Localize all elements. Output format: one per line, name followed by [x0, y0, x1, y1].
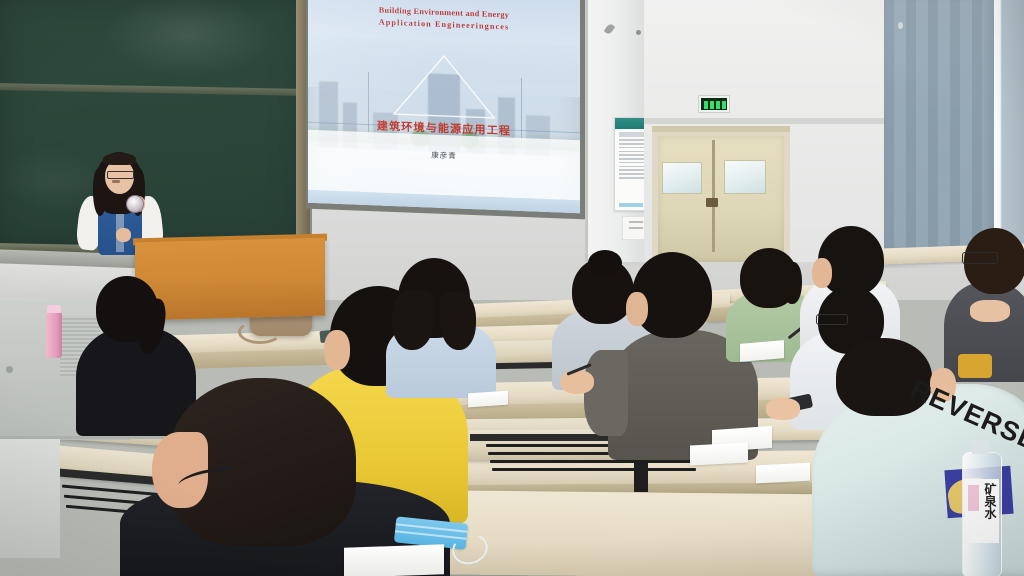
bottle-label-text: 矿泉水 [983, 483, 996, 519]
student-10-hand [970, 300, 1010, 322]
paper-4 [690, 442, 748, 465]
glasses-icon-far-right [962, 252, 998, 264]
student-6-hand [560, 370, 594, 394]
glasses-icon-right-mid [816, 314, 848, 325]
student-5-hair-bun [588, 250, 622, 276]
paper-5 [756, 463, 810, 484]
instructor-fringe [103, 153, 136, 165]
floor-tile-left [0, 438, 60, 558]
pink-bottle-cap [47, 305, 61, 313]
student-2-ear [152, 432, 208, 508]
bottle-label: 矿泉水 [965, 479, 999, 543]
glasses-icon [107, 171, 134, 179]
water-bottle[interactable]: 矿泉水 [962, 452, 1002, 576]
handbag-strap [238, 320, 282, 344]
instructor-left-hand [116, 228, 131, 242]
student-6-ear [626, 292, 648, 326]
door-header [652, 126, 790, 132]
screen-glare [308, 0, 444, 213]
wall-dot-icon [636, 30, 641, 35]
classroom-photo: Building Environment and Energy Applicat… [0, 0, 1024, 576]
student-3-ear [324, 330, 350, 370]
door-window-right [724, 160, 766, 194]
paper-3 [344, 544, 444, 576]
wall-trim [644, 118, 896, 124]
projection-screen: Building Environment and Energy Applicat… [308, 0, 580, 213]
instructor-mouth [112, 180, 120, 183]
bottle-cap [972, 440, 990, 454]
window-curtain[interactable] [884, 0, 994, 256]
student-7-ponytail [784, 262, 802, 304]
paper-6 [468, 391, 508, 408]
curtain-right-panel[interactable] [999, 0, 1024, 252]
door-window-left [662, 162, 702, 194]
frame-bar-c [490, 460, 696, 463]
pink-water-bottle[interactable] [46, 310, 62, 358]
door-handle-icon[interactable] [706, 198, 718, 207]
student-4-hair-right [440, 292, 476, 350]
frame-bar-d [492, 468, 696, 471]
student-9-hand [766, 398, 800, 420]
door-push-rod[interactable] [712, 140, 715, 252]
student-8-ear [812, 258, 832, 288]
paper-1 [740, 340, 784, 362]
curtain-highlight [898, 22, 903, 29]
emergency-exit-sign [698, 95, 730, 113]
cabinet-knob-icon[interactable] [6, 366, 13, 373]
student-4-hair-left [392, 290, 434, 350]
backpack-accent [958, 354, 992, 378]
classroom-door[interactable] [658, 136, 784, 262]
microphone-icon[interactable] [126, 195, 144, 213]
